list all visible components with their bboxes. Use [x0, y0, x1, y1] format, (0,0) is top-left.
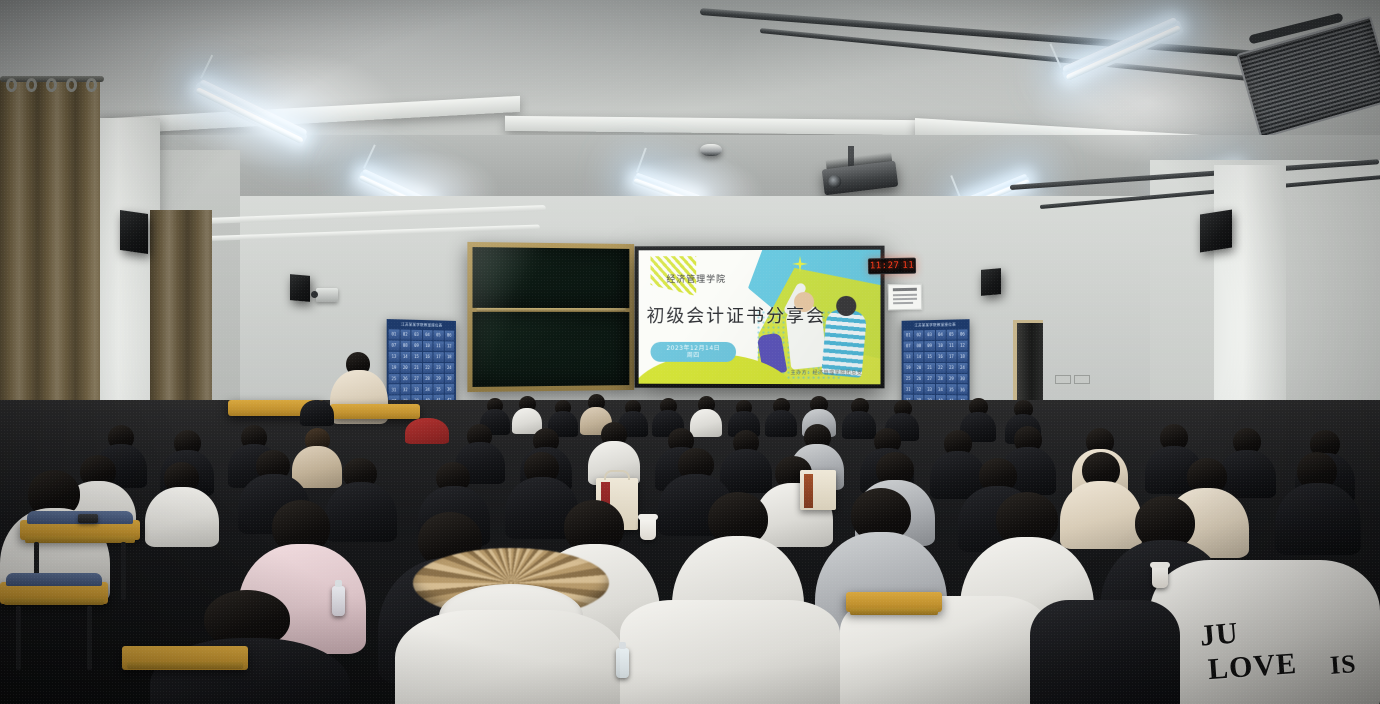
seat-cell: 14 — [914, 352, 924, 362]
seat-cell: 09 — [411, 341, 421, 351]
wall-speaker — [290, 274, 310, 302]
person-coat — [1030, 600, 1180, 704]
seat-cell: 22 — [422, 363, 432, 373]
person-coat — [620, 600, 840, 704]
seat-cell: 01 — [389, 329, 399, 339]
desk-shelf — [850, 608, 938, 615]
seat-cell: 02 — [400, 330, 410, 340]
front-desk — [330, 404, 420, 419]
seat-cell: 07 — [389, 340, 399, 350]
seat-cell: 34 — [935, 384, 945, 394]
seat-cell: 24 — [957, 363, 967, 373]
seat-cell: 08 — [914, 341, 924, 351]
seat-cell: 24 — [444, 363, 454, 373]
desk-leg — [87, 606, 92, 670]
seat-cell: 29 — [433, 373, 443, 383]
chalkboard-glare — [467, 242, 634, 392]
jacket-letter-line2: LOVE — [1207, 647, 1298, 687]
seat-cell: 25 — [389, 374, 399, 384]
seat-cell: 04 — [422, 330, 432, 340]
wall-speaker — [120, 210, 148, 254]
seat-chart-title: 江苏某某学院教室座位表 — [903, 322, 967, 328]
student-desk — [20, 520, 140, 540]
seat-cell: 32 — [400, 384, 410, 394]
seat-cell: 19 — [389, 363, 399, 373]
audience-person — [145, 462, 219, 542]
seat-cell: 03 — [925, 330, 935, 340]
person-coat — [1275, 483, 1361, 555]
seat-cell: 14 — [400, 352, 410, 362]
green-chalkboard — [467, 242, 634, 392]
student-desk — [122, 646, 248, 670]
seat-cell: 27 — [925, 373, 935, 383]
seat-cell: 20 — [400, 363, 410, 373]
seat-cell: 16 — [935, 352, 945, 362]
wall-notice-sign — [888, 284, 922, 311]
jacket-letter-line3: IS — [1329, 649, 1358, 681]
drink-cup — [1152, 566, 1168, 588]
desk-leg — [16, 606, 21, 670]
seat-cell: 23 — [433, 363, 443, 373]
desk-seat-back — [6, 573, 101, 586]
seat-cell: 27 — [411, 374, 421, 384]
seat-cell: 21 — [411, 363, 421, 373]
curtain-grommet — [26, 78, 37, 92]
slide-date-line2: 周四 — [666, 352, 720, 360]
desk-shelf — [25, 536, 135, 543]
seat-cell: 30 — [957, 374, 967, 384]
audience-person-red — [405, 418, 449, 444]
mobile-phone[interactable] — [78, 514, 98, 523]
seat-cell: 31 — [903, 384, 913, 394]
window-curtain-left[interactable] — [0, 80, 100, 455]
seat-cell: 33 — [925, 384, 935, 394]
seat-cell: 17 — [946, 352, 956, 362]
seat-cell: 21 — [925, 363, 935, 373]
seat-cell: 22 — [935, 363, 945, 373]
clock-seconds: 11 — [902, 261, 914, 271]
seat-cell: 08 — [400, 341, 410, 351]
desk-leg — [121, 542, 126, 600]
water-bottle — [332, 586, 345, 616]
seat-cell: 29 — [946, 374, 956, 384]
seat-cell: 35 — [946, 384, 956, 394]
foreground-person-fur-hood — [395, 548, 625, 704]
seat-cell: 35 — [433, 384, 443, 394]
seat-cell: 17 — [433, 352, 443, 362]
seat-cell: 06 — [444, 330, 454, 340]
seat-cell: 13 — [389, 351, 399, 361]
curtain-grommet — [46, 78, 57, 92]
seat-cell: 13 — [903, 352, 913, 362]
seat-cell: 09 — [925, 341, 935, 351]
tote-strap — [604, 470, 631, 480]
audience-person — [512, 396, 542, 432]
foreground-person-dark — [1030, 600, 1180, 704]
desk-shelf — [4, 598, 103, 605]
seat-cell: 28 — [935, 374, 945, 384]
seat-cell: 11 — [433, 341, 443, 351]
slide-title: 初级会计证书分享会 — [647, 302, 827, 328]
slide-date-pill: 2023年12月14日 周四 — [651, 342, 737, 362]
seat-cell: 15 — [411, 352, 421, 362]
seat-cell: 07 — [903, 341, 913, 351]
seat-cell: 36 — [444, 384, 454, 394]
foreground-person-center-right — [620, 600, 840, 704]
seat-cell: 10 — [422, 341, 432, 351]
seat-cell: 02 — [914, 330, 924, 340]
seat-cell: 15 — [925, 352, 935, 362]
seat-cell: 03 — [411, 330, 421, 340]
person-coat — [145, 487, 219, 547]
seat-cell: 06 — [957, 329, 967, 339]
person-coat — [395, 610, 625, 704]
seat-cell: 31 — [389, 385, 399, 395]
window-curtain-middle[interactable] — [150, 210, 212, 425]
seat-cell: 16 — [422, 352, 432, 362]
seat-cell: 18 — [444, 352, 454, 362]
seat-cell: 28 — [422, 373, 432, 383]
seat-cell: 01 — [903, 330, 913, 340]
tote-band — [804, 474, 813, 508]
seat-cell: 34 — [422, 384, 432, 394]
water-bottle — [616, 648, 629, 678]
slide-date-line1: 2023年12月14日 — [666, 344, 720, 352]
audience-person — [1275, 452, 1361, 546]
wall-outlet — [1074, 375, 1090, 384]
seat-cell: 26 — [914, 373, 924, 383]
wall-speaker — [981, 268, 1001, 296]
clock-time: 11:27 — [870, 261, 900, 272]
classroom-photo: 经济管理学院 初级会计证书分享会 2023年12月14日 周四 主办方：经济管理… — [0, 0, 1380, 704]
chalkboard-panel-lower — [472, 312, 629, 387]
seat-cell: 19 — [903, 363, 913, 373]
slide-figure-b-head — [836, 296, 856, 316]
wall-speaker — [1200, 209, 1232, 252]
seat-cell: 05 — [433, 330, 443, 340]
digital-clock: 11:27 11 — [868, 258, 916, 275]
seat-cell: 20 — [914, 363, 924, 373]
notice-line — [893, 302, 913, 304]
projector-lens-icon — [828, 174, 842, 188]
projection-screen[interactable]: 经济管理学院 初级会计证书分享会 2023年12月14日 周四 主办方：经济管理… — [635, 246, 885, 389]
seat-cell: 23 — [946, 363, 956, 373]
jacket-letter-line1: JU — [1199, 616, 1240, 653]
student-desk — [846, 592, 942, 612]
audience-person — [728, 400, 760, 434]
seat-cell: 18 — [957, 351, 967, 361]
seat-cell: 36 — [957, 385, 967, 395]
wall-outlet — [1055, 375, 1071, 384]
notice-line — [893, 288, 917, 291]
seat-cell: 05 — [946, 330, 956, 340]
desk-shelf — [127, 662, 243, 669]
seat-cell: 30 — [444, 373, 454, 383]
slide-credit: 主办方：经济管理学院团总支 — [791, 369, 863, 376]
seat-cell: 32 — [914, 384, 924, 394]
notice-line — [893, 298, 917, 300]
seat-cell: 04 — [935, 330, 945, 340]
seat-cell: 12 — [957, 340, 967, 350]
audience-person — [300, 400, 334, 426]
seat-cell: 26 — [400, 374, 410, 384]
notice-line — [893, 294, 917, 296]
curtain-grommet — [86, 78, 97, 92]
wall-camera-icon — [316, 288, 338, 302]
smoke-detector-icon — [700, 144, 722, 156]
seat-cell: 11 — [946, 341, 956, 351]
curtain-grommet — [6, 78, 17, 92]
curtain-grommet — [66, 78, 77, 92]
slide-organization: 经济管理学院 — [666, 272, 726, 285]
screen-surface: 经济管理学院 初级会计证书分享会 2023年12月14日 周四 主办方：经济管理… — [639, 250, 881, 385]
seat-chart-title: 江苏某某学院教室座位表 — [389, 322, 454, 329]
seat-cell: 12 — [444, 341, 454, 351]
seat-cell: 25 — [903, 373, 913, 383]
student-desk — [0, 582, 108, 604]
seat-cell: 10 — [935, 341, 945, 351]
seat-cell: 33 — [411, 384, 421, 394]
slide-figure-b-body — [821, 308, 867, 377]
